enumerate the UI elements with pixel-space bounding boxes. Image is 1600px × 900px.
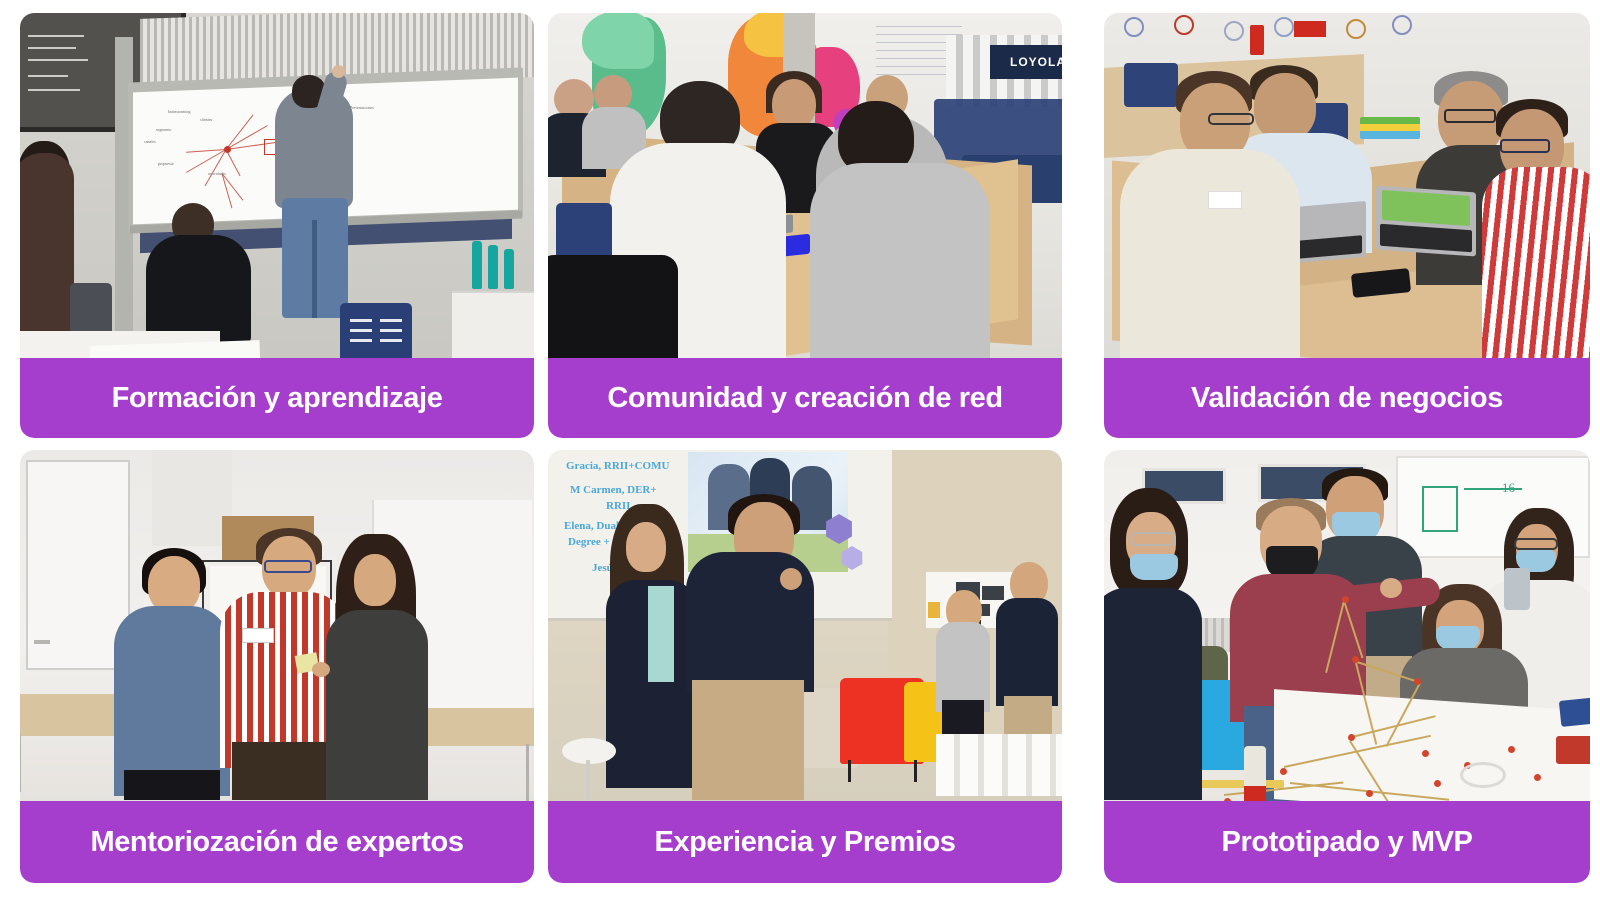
card-label-band: Mentoriozación de expertos [20, 801, 534, 883]
pitch-room-photo: Gracia, RRII+COMU M Carmen, DER+ RRII El… [548, 450, 1062, 801]
card-comunidad[interactable]: LOYOLA Comunidad y creación de red [548, 13, 1062, 438]
card-title: Prototipado y MVP [1222, 828, 1473, 857]
card-label-band: Prototipado y MVP [1104, 801, 1590, 883]
card-prototipado[interactable]: 16 [1104, 450, 1590, 883]
card-validacion[interactable]: Validación de negocios [1104, 13, 1590, 438]
card-formacion[interactable]: brainstorming clientes segmento canales … [20, 13, 534, 438]
card-title: Validación de negocios [1191, 384, 1503, 413]
slide-line-2: M Carmen, DER+ [570, 484, 657, 496]
cards-grid: brainstorming clientes segmento canales … [0, 0, 1600, 900]
card-label-band: Comunidad y creación de red [548, 358, 1062, 438]
slide-line-1: Gracia, RRII+COMU [566, 460, 669, 472]
card-experiencia[interactable]: Gracia, RRII+COMU M Carmen, DER+ RRII El… [548, 450, 1062, 883]
whiteboard-number: 16 [1502, 480, 1515, 496]
card-label-band: Experiencia y Premios [548, 801, 1062, 883]
mentors-laptops-photo [1104, 13, 1590, 358]
card-title: Experiencia y Premios [654, 828, 955, 857]
classroom-whiteboard-photo: brainstorming clientes segmento canales … [20, 13, 534, 358]
card-title: Formación y aprendizaje [112, 384, 443, 413]
card-label-band: Formación y aprendizaje [20, 358, 534, 438]
prototyping-workshop-photo: 16 [1104, 450, 1590, 801]
loyola-backdrop-logo: LOYOLA [990, 45, 1062, 79]
team-table-discussion-photo: LOYOLA [548, 13, 1062, 358]
card-mentorizacion[interactable]: Mentoriozación de expertos [20, 450, 534, 883]
card-title: Mentoriozación de expertos [90, 828, 463, 857]
networking-standing-photo [20, 450, 534, 801]
card-title: Comunidad y creación de red [607, 384, 1002, 413]
card-label-band: Validación de negocios [1104, 358, 1590, 438]
